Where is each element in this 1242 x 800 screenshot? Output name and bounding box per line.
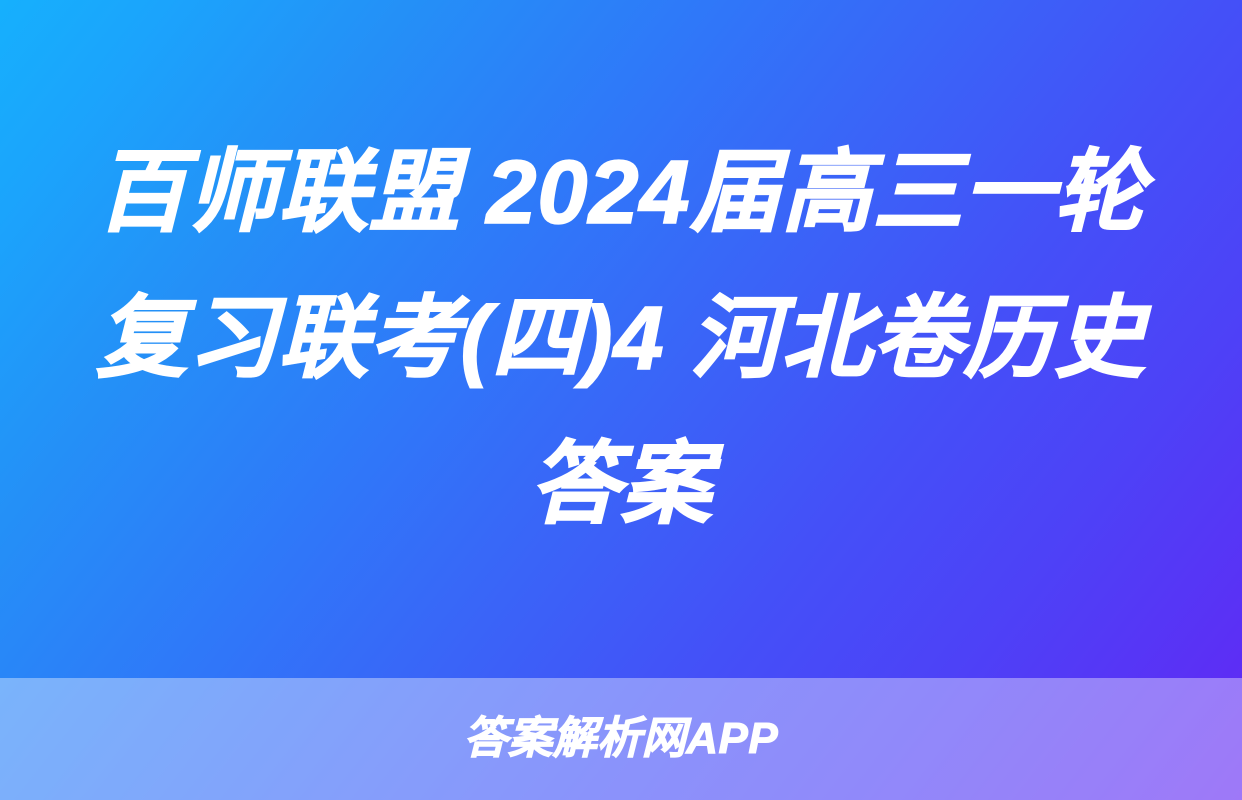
poster-canvas: 百师联盟 2024届高三一轮复习联考(四)4 河北卷历史答案 答案解析网APP xyxy=(0,0,1242,800)
page-title: 百师联盟 2024届高三一轮复习联考(四)4 河北卷历史答案 xyxy=(76,120,1166,558)
headline-container: 百师联盟 2024届高三一轮复习联考(四)4 河北卷历史答案 xyxy=(0,0,1242,678)
watermark-text: 答案解析网APP xyxy=(464,714,778,764)
watermark-band: 答案解析网APP xyxy=(0,678,1242,800)
